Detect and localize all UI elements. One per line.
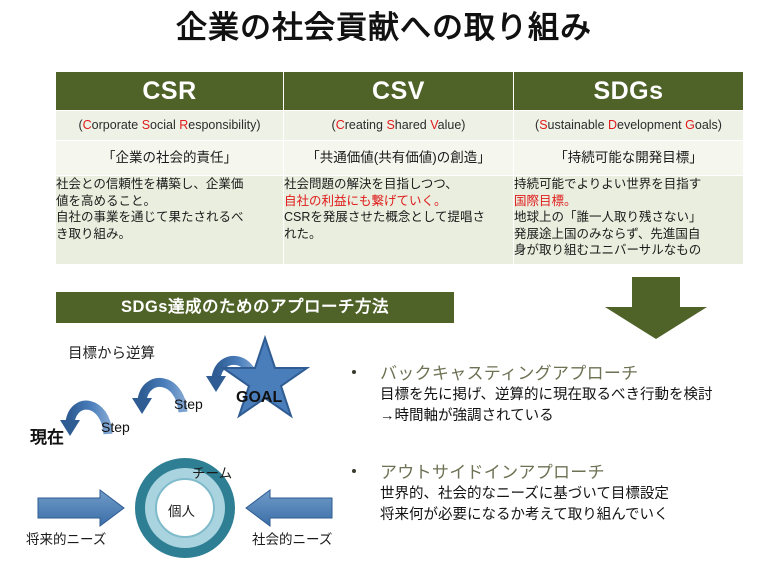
down-arrow-icon (597, 277, 715, 339)
csr-line-4: き取り組み。 (56, 226, 283, 243)
circle-team-label: チーム (192, 462, 232, 482)
csv-line-4: れた。 (284, 226, 513, 243)
description-csr: 社会との信頼性を構築し、企業価 値を高めること。 自社の事業を通じて果たされるべ… (56, 176, 284, 265)
left-arrow-label: 将来的ニーズ (26, 528, 106, 548)
csv-line-2-highlight: 自社の利益にも繋げていく。 (284, 193, 513, 210)
backcasting-caption: 目標から逆算 (68, 342, 155, 363)
japanese-name-csv: 「共通価値(共有価値)の創造」 (284, 141, 514, 176)
approach-banner: SDGs達成のためのアプローチ方法 (56, 292, 454, 323)
list-item: バックキャスティングアプローチ 目標を先に掲げ、逆算的に現在取るべき行動を検討 … (348, 362, 763, 427)
backcasting-step1-label: Step (101, 419, 130, 435)
backcasting-diagram: 目標から逆算 現在 Step Step GOAL (28, 334, 348, 454)
table-header-csr: CSR (56, 72, 284, 111)
circle-person-label: 個人 (168, 500, 195, 520)
approach-detail-line-1: 世界的、社会的なニーズに基づいて目標設定 (380, 484, 763, 505)
table-header-csv: CSV (284, 72, 514, 111)
sdgs-line-1: 持続可能でよりよい世界を目指す (514, 176, 743, 193)
comparison-table: CSR CSV SDGs (Corporate Social Responsib… (55, 71, 744, 265)
bullet-dot-icon (352, 469, 356, 473)
table-row-descriptions: 社会との信頼性を構築し、企業価 値を高めること。 自社の事業を通じて果たされるべ… (56, 176, 744, 265)
bullet-dot-icon (352, 370, 356, 374)
csv-line-1: 社会問題の解決を目指しつつ、 (284, 176, 513, 193)
backcasting-step2-label: Step (174, 396, 203, 412)
left-arrow-icon (38, 490, 124, 526)
description-sdgs: 持続可能でよりよい世界を目指す 国際目標。 地球上の「誰一人取り残さない」 発展… (514, 176, 744, 265)
japanese-name-csr: 「企業の社会的責任」 (56, 141, 284, 176)
japanese-name-sdgs: 「持続可能な開発目標」 (514, 141, 744, 176)
approach-list: バックキャスティングアプローチ 目標を先に掲げ、逆算的に現在取るべき行動を検討 … (348, 362, 763, 548)
needs-circles-diagram: チーム 個人 将来的ニーズ 社会的ニーズ (20, 452, 350, 570)
approach-heading: バックキャスティングアプローチ (380, 362, 763, 385)
table-row-japanese-names: 「企業の社会的責任」 「共通価値(共有価値)の創造」 「持続可能な開発目標」 (56, 141, 744, 176)
csr-line-3: 自社の事業を通じて果たされるべ (56, 209, 283, 226)
approach-heading: アウトサイドインアプローチ (380, 461, 763, 484)
expansion-csr: (Corporate Social Responsibility) (56, 111, 284, 141)
approach-detail-line-1: 目標を先に掲げ、逆算的に現在取るべき行動を検討 (380, 385, 763, 406)
approach-detail-line-2: →時間軸が強調されている (380, 406, 763, 427)
backcasting-start-label: 現在 (30, 423, 64, 448)
description-csv: 社会問題の解決を目指しつつ、 自社の利益にも繋げていく。 CSRを発展させた概念… (284, 176, 514, 265)
backcasting-goal-label: GOAL (236, 389, 282, 407)
table-row-headers: CSR CSV SDGs (56, 72, 744, 111)
right-arrow-label: 社会的ニーズ (252, 528, 332, 548)
list-item: アウトサイドインアプローチ 世界的、社会的なニーズに基づいて目標設定 将来何が必… (348, 461, 763, 526)
sdgs-line-2-highlight: 国際目標。 (514, 193, 743, 210)
csr-line-1: 社会との信頼性を構築し、企業価 (56, 176, 283, 193)
approach-detail-line-2: 将来何が必要になるか考えて取り組んでいく (380, 505, 763, 526)
table-row-expansions: (Corporate Social Responsibility) (Creat… (56, 111, 744, 141)
csv-line-3: CSRを発展させた概念として提唱さ (284, 209, 513, 226)
sdgs-line-5: 身が取り組むユニバーサルなもの (514, 242, 743, 259)
table-header-sdgs: SDGs (514, 72, 744, 111)
sdgs-line-3: 地球上の「誰一人取り残さない」 (514, 209, 743, 226)
page-title: 企業の社会貢献への取り組み (0, 8, 768, 48)
right-arrow-icon (246, 490, 332, 526)
comparison-table-wrapper: CSR CSV SDGs (Corporate Social Responsib… (55, 71, 743, 265)
expansion-sdgs: (Sustainable Development Goals) (514, 111, 744, 141)
expansion-csv: (Creating Shared Value) (284, 111, 514, 141)
sdgs-line-4: 発展途上国のみならず、先進国自 (514, 226, 743, 243)
csr-line-2: 値を高めること。 (56, 193, 283, 210)
